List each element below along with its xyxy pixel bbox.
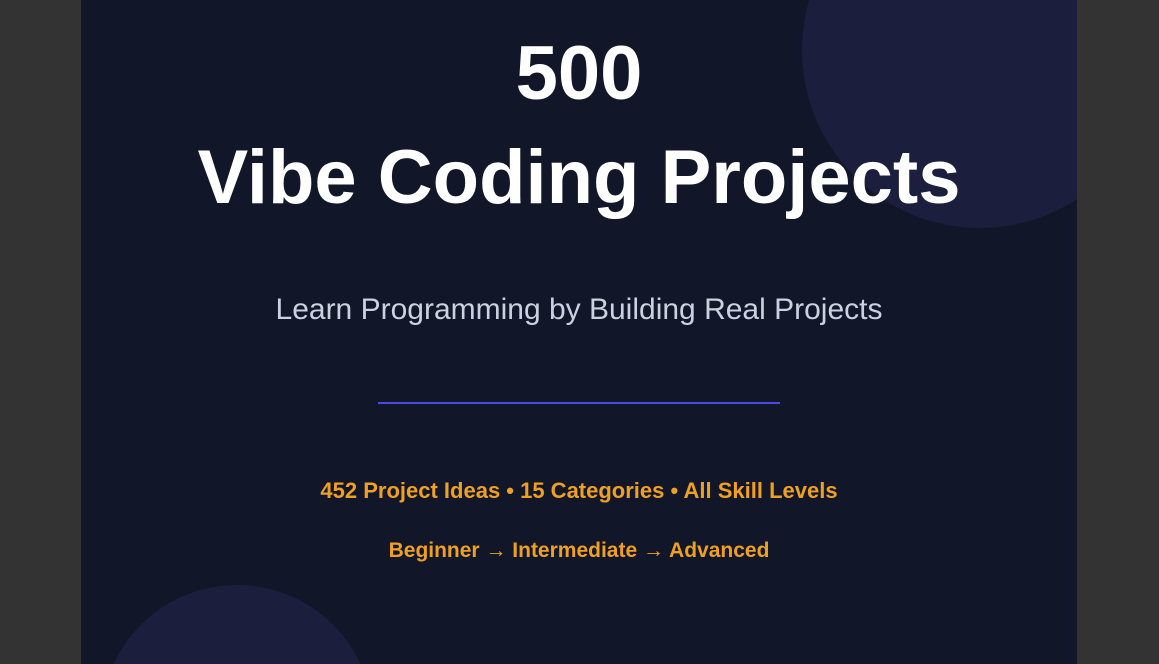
screen-root: 500 Vibe Coding Projects Learn Programmi… [0,0,1159,664]
skill-levels-line: Beginner → Intermediate → Advanced [389,538,770,563]
subtitle: Learn Programming by Building Real Proje… [276,292,883,328]
divider [378,402,780,404]
page-title: Vibe Coding Projects [189,127,969,224]
title-block: 500 Vibe Coding Projects [189,22,969,224]
slide-panel: 500 Vibe Coding Projects Learn Programmi… [81,0,1077,664]
stats-line: 452 Project Ideas • 15 Categories • All … [320,478,837,504]
title-number: 500 [189,22,969,127]
slide-content: 500 Vibe Coding Projects Learn Programmi… [81,0,1077,664]
